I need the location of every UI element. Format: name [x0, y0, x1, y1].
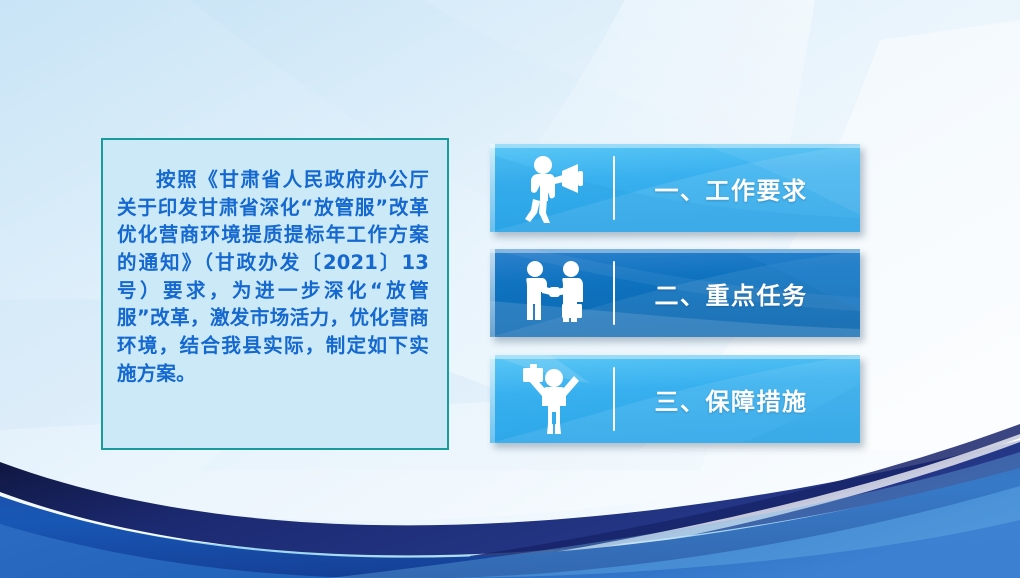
card-divider-line [613, 156, 615, 220]
slide-canvas: 按照《甘肃省人民政府办公厅关于印发甘肃省深化“放管服”改革优化营商环境提质提标年… [0, 0, 1020, 578]
card-divider-line [613, 261, 615, 325]
card-left-edge-highlight [490, 144, 495, 232]
handshake-business-people-icon [516, 256, 592, 330]
card-left-edge-highlight [490, 355, 495, 443]
section-card-safeguard-measures[interactable]: 三、保障措施 [490, 355, 860, 443]
section-card-work-requirements[interactable]: 一、工作要求 [490, 144, 860, 232]
person-raising-arms-with-briefcase-icon [516, 362, 592, 436]
card-left-edge-highlight [490, 249, 495, 337]
card-label-work-requirements: 一、工作要求 [640, 144, 850, 232]
person-with-megaphone-icon [516, 151, 592, 225]
card-label-safeguard-measures: 三、保障措施 [640, 355, 850, 443]
intro-text-panel: 按照《甘肃省人民政府办公厅关于印发甘肃省深化“放管服”改革优化营商环境提质提标年… [101, 138, 449, 450]
card-label-key-tasks: 二、重点任务 [640, 249, 850, 337]
card-divider-line [613, 367, 615, 431]
intro-paragraph-text: 按照《甘肃省人民政府办公厅关于印发甘肃省深化“放管服”改革优化营商环境提质提标年… [103, 140, 447, 388]
section-card-key-tasks[interactable]: 二、重点任务 [490, 249, 860, 337]
